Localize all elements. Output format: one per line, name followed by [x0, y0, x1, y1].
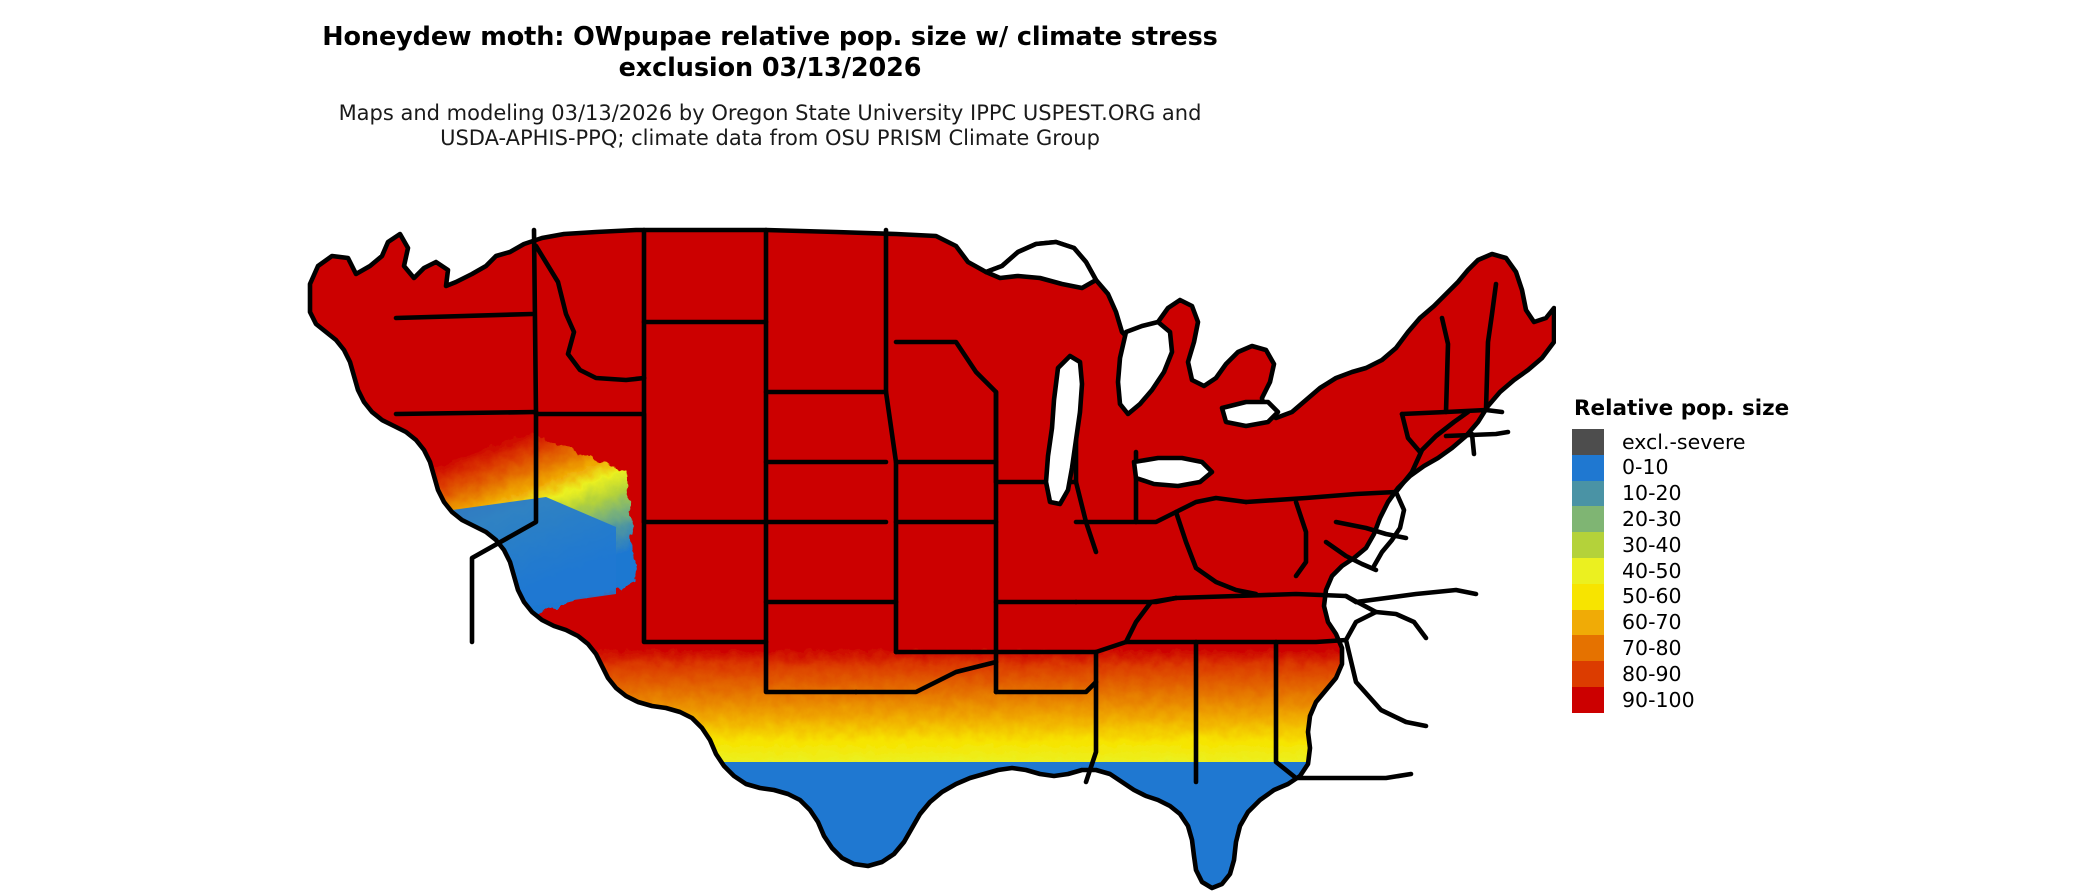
border-tn-ms-al-ga	[1126, 640, 1346, 642]
legend-color-swatch	[1572, 584, 1604, 610]
legend-color-swatch	[1572, 661, 1604, 687]
chart-header: Honeydew moth: OWpupae relative pop. siz…	[0, 0, 1540, 151]
legend-entry-label: 0-10	[1622, 457, 1669, 478]
legend-entry: 70-80	[1572, 635, 1992, 661]
legend-color-swatch	[1572, 558, 1604, 584]
legend-entry-label: 20-30	[1622, 509, 1682, 530]
legend-entry: 10-20	[1572, 481, 1992, 507]
legend-color-swatch	[1572, 687, 1604, 713]
legend-entry-list: excl.-severe0-1010-2020-3030-4040-5050-6…	[1572, 429, 1992, 713]
raster-southwest-low-core	[356, 497, 616, 614]
legend-entry-label: 60-70	[1622, 612, 1682, 633]
legend-color-swatch	[1572, 506, 1604, 532]
border-ct-ri	[1472, 434, 1474, 454]
legend-entry: 40-50	[1572, 558, 1992, 584]
chart-subtitle: Maps and modeling 03/13/2026 by Oregon S…	[0, 101, 1540, 151]
map-legend: Relative pop. size excl.-severe0-1010-20…	[1572, 396, 1992, 713]
legend-entry: 0-10	[1572, 455, 1992, 481]
legend-entry: 80-90	[1572, 661, 1992, 687]
legend-entry: 20-30	[1572, 506, 1992, 532]
legend-entry: 60-70	[1572, 610, 1992, 636]
legend-color-swatch	[1572, 635, 1604, 661]
legend-color-swatch	[1572, 481, 1604, 507]
legend-entry-label: excl.-severe	[1622, 432, 1746, 453]
border-va-nc	[1356, 590, 1476, 602]
legend-entry-label: 90-100	[1622, 690, 1695, 711]
legend-color-swatch	[1572, 455, 1604, 481]
legend-entry-label: 40-50	[1622, 561, 1682, 582]
legend-entry-label: 50-60	[1622, 586, 1682, 607]
border-ga-fl	[1296, 774, 1411, 778]
legend-entry-label: 70-80	[1622, 638, 1682, 659]
map-svg	[296, 222, 1556, 892]
map-page: Honeydew moth: OWpupae relative pop. siz…	[0, 0, 2100, 892]
map-raster-layer	[296, 222, 1556, 892]
legend-entry-label: 30-40	[1622, 535, 1682, 556]
legend-entry: 90-100	[1572, 687, 1992, 713]
raster-florida-low-class	[1401, 742, 1541, 892]
border-sc-ga	[1346, 640, 1426, 726]
raster-south-band	[596, 617, 1556, 892]
legend-entry: excl.-severe	[1572, 429, 1992, 455]
chart-subtitle-line-2: USDA-APHIS-PPQ; climate data from OSU PR…	[0, 126, 1540, 151]
chart-subtitle-line-1: Maps and modeling 03/13/2026 by Oregon S…	[0, 101, 1540, 126]
lake-ontario	[1222, 402, 1278, 426]
raster-gulf-low-class	[716, 762, 1436, 892]
lake-erie	[1134, 458, 1212, 486]
page-title-line-2: exclusion 03/13/2026	[0, 53, 1540, 84]
border-wa-or-id	[534, 230, 536, 414]
legend-entry: 30-40	[1572, 532, 1992, 558]
border-ga-sc-nc	[1346, 612, 1426, 640]
legend-entry-label: 10-20	[1622, 483, 1682, 504]
legend-entry: 50-60	[1572, 584, 1992, 610]
legend-color-swatch	[1572, 610, 1604, 636]
page-title-line-1: Honeydew moth: OWpupae relative pop. siz…	[0, 22, 1540, 53]
border-or-ca-nv	[396, 412, 536, 414]
legend-color-swatch	[1572, 429, 1604, 455]
us-choropleth-map	[296, 222, 1556, 892]
legend-title: Relative pop. size	[1574, 396, 1992, 421]
legend-entry-label: 80-90	[1622, 664, 1682, 685]
legend-color-swatch	[1572, 532, 1604, 558]
raster-southern-gradient	[596, 617, 1556, 892]
